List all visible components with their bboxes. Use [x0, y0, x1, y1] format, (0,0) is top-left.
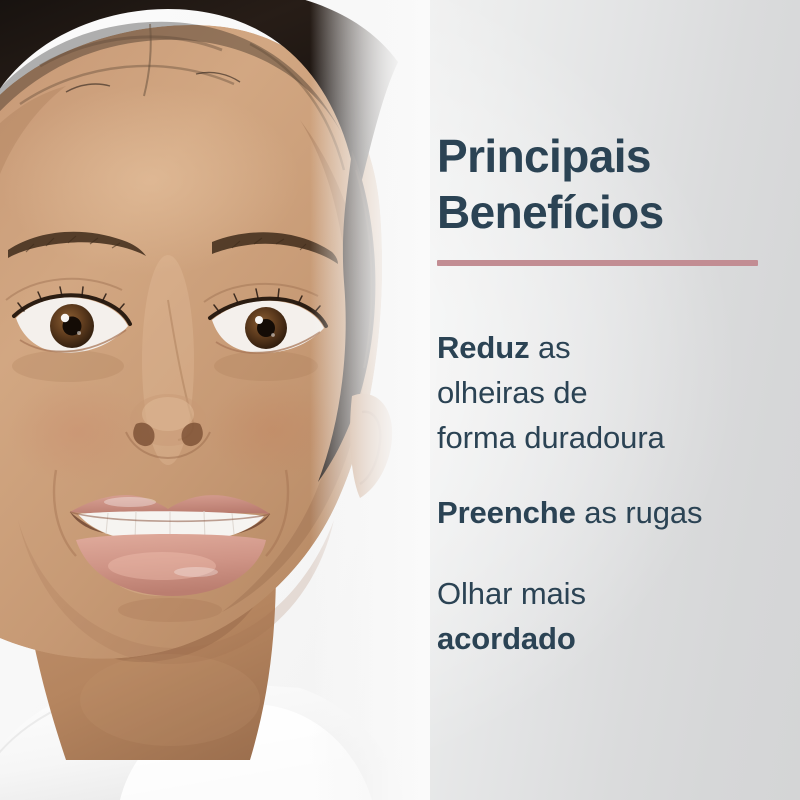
model-portrait-photo: [0, 0, 430, 800]
benefit-3-emphasis: acordado: [437, 616, 782, 661]
benefit-1-line-1-rest: as: [530, 330, 571, 365]
benefit-item-reduz-olheiras: Reduz as olheiras de forma duradoura: [437, 325, 782, 460]
title-divider: [437, 260, 758, 266]
benefit-item-preenche-rugas: Preenche as rugas: [437, 490, 782, 535]
benefit-1-emphasis: Reduz: [437, 330, 530, 365]
benefit-1-line-2: olheiras de: [437, 370, 782, 415]
benefits-graphic: Principais Benefícios Reduz as olheiras …: [0, 0, 800, 800]
page-title: Principais Benefícios: [437, 128, 777, 240]
benefit-2-emphasis: Preenche: [437, 495, 576, 530]
headline-line-2: Benefícios: [437, 184, 777, 240]
benefit-2-line-1: Preenche as rugas: [437, 490, 782, 535]
benefit-1-line-3: forma duradoura: [437, 415, 782, 460]
headline-line-1: Principais: [437, 128, 777, 184]
benefit-item-olhar-acordado: Olhar mais acordado: [437, 571, 782, 661]
benefit-2-line-1-rest: as rugas: [576, 495, 703, 530]
benefit-3-line-1: Olhar mais: [437, 571, 782, 616]
benefits-text-panel: Principais Benefícios Reduz as olheiras …: [437, 0, 777, 800]
benefit-1-line-1: Reduz as: [437, 325, 782, 370]
benefits-list: Reduz as olheiras de forma duradoura Pre…: [437, 325, 782, 661]
